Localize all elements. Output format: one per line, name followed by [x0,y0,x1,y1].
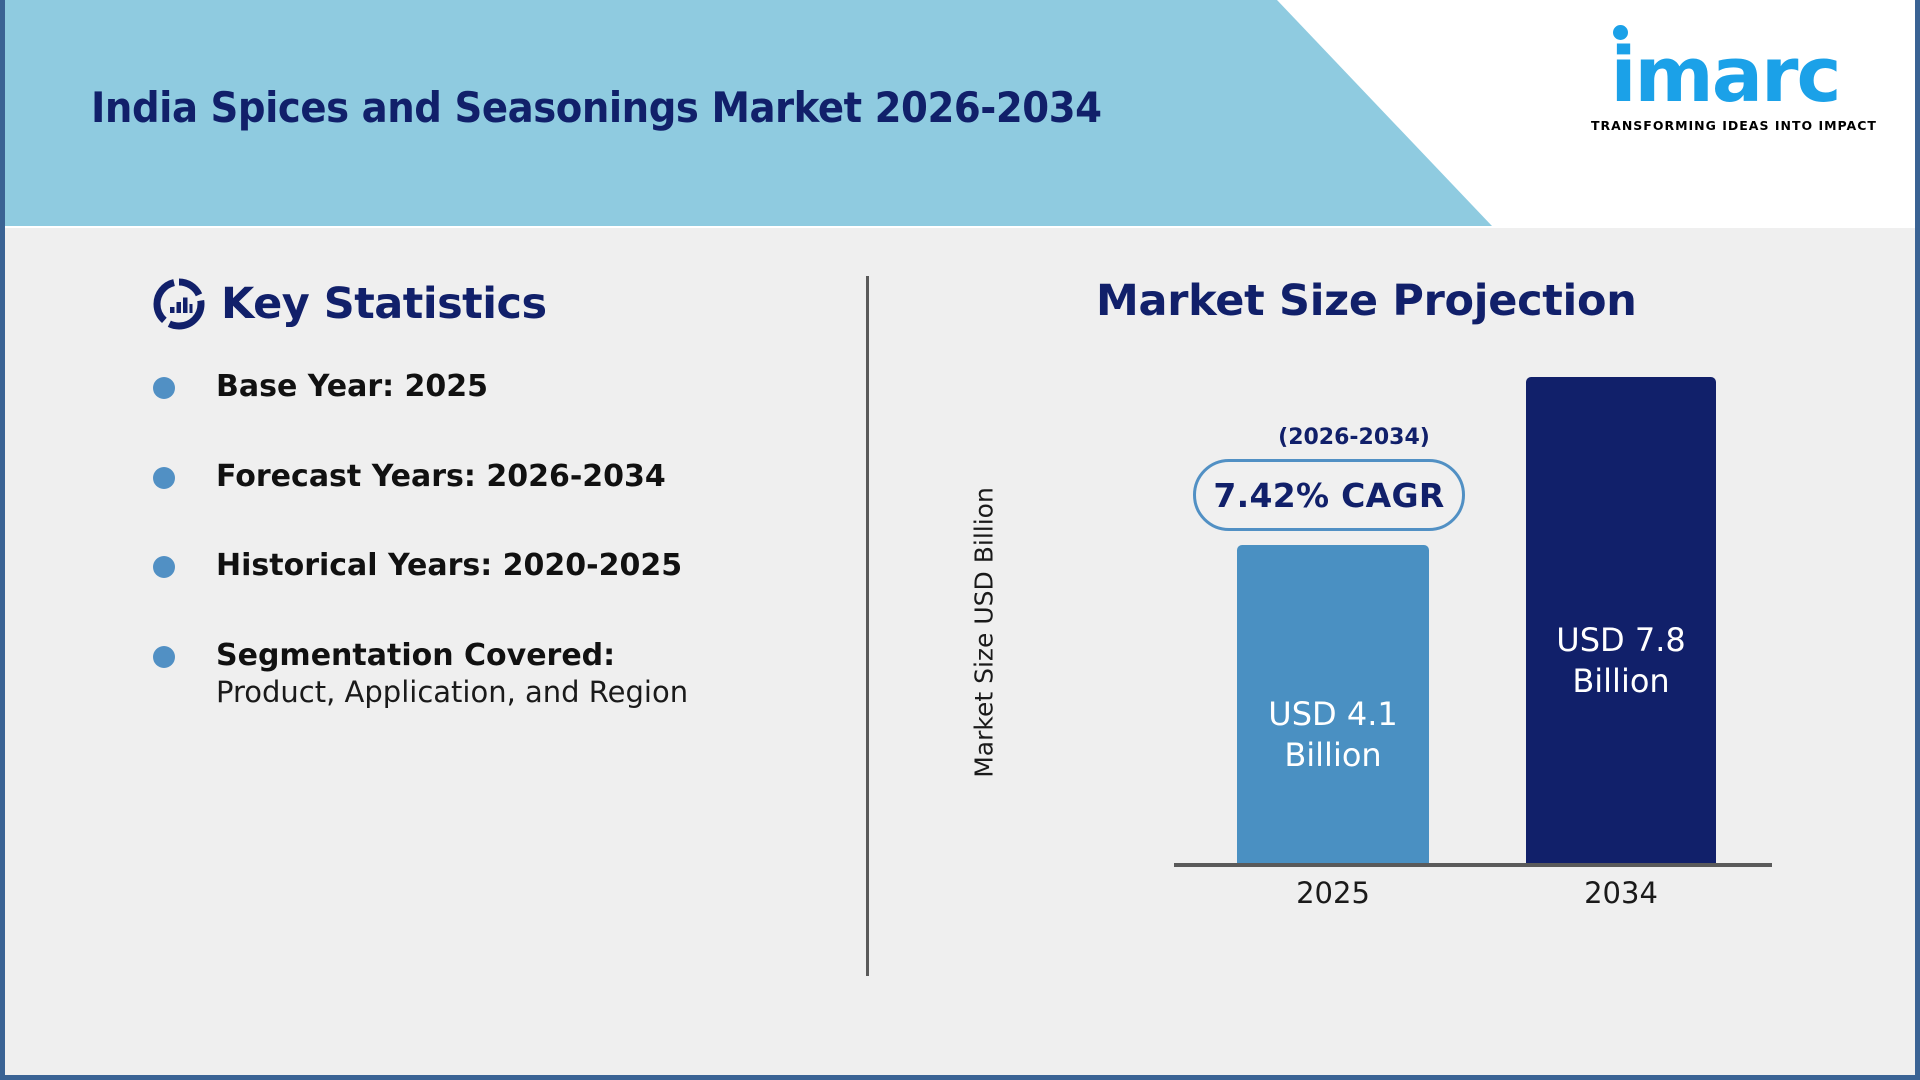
x-axis-tick-2034: 2034 [1525,876,1717,910]
bar-2034: USD 7.8 Billion [1526,377,1716,863]
list-item-texts: Forecast Years: 2026-2034 [216,458,666,496]
key-statistics-panel: Key Statistics Base Year: 2025 Forecast … [5,228,866,1075]
imarc-logo: imarc TRANSFORMING IDEAS INTO IMPACT [1591,36,1859,133]
key-statistics-list: Base Year: 2025 Forecast Years: 2026-203… [153,368,833,710]
donut-bar-chart-icon [153,278,205,330]
bar-2034-value-line2: Billion [1572,662,1669,700]
infographic-canvas: India Spices and Seasonings Market 2026-… [0,0,1920,1080]
x-axis-tick-2025: 2025 [1237,876,1429,910]
bullet-icon [153,377,175,399]
bullet-icon [153,467,175,489]
bar-2034-value-line1: USD 7.8 [1556,621,1685,659]
bar-2025-value: USD 4.1 Billion [1268,694,1397,776]
list-item-label: Forecast Years: 2026-2034 [216,459,666,494]
bullet-icon [153,646,175,668]
logo-mark: imarc [1591,36,1859,114]
list-item-texts: Historical Years: 2020-2025 [216,547,682,585]
bar-2034-value: USD 7.8 Billion [1556,620,1685,702]
cagr-value: 7.42% CAGR [1213,476,1444,515]
list-item-texts: Segmentation Covered: Product, Applicati… [216,637,833,711]
list-item: Historical Years: 2020-2025 [153,547,833,585]
chart-x-axis-line [1174,863,1772,867]
bar-chart: (2026-2034) 7.42% CAGR USD 4.1 Billion U… [866,228,1915,1075]
bar-2025-value-line1: USD 4.1 [1268,695,1397,733]
list-item: Segmentation Covered: Product, Applicati… [153,637,833,711]
list-item: Base Year: 2025 [153,368,833,406]
list-item-label: Segmentation Covered: [216,638,615,673]
market-size-projection-panel: Market Size Projection Market Size USD B… [866,228,1915,1075]
cagr-badge: 7.42% CAGR [1193,459,1465,531]
list-item-texts: Base Year: 2025 [216,368,488,406]
header-banner: India Spices and Seasonings Market 2026-… [5,0,1915,228]
cagr-period-label: (2026-2034) [1221,425,1487,450]
content-area: Key Statistics Base Year: 2025 Forecast … [5,228,1915,1075]
bullet-icon [153,556,175,578]
list-item-sublabel: Product, Application, and Region [216,675,688,709]
key-statistics-header: Key Statistics [153,278,547,330]
list-item-label: Base Year: 2025 [216,369,488,404]
list-item: Forecast Years: 2026-2034 [153,458,833,496]
list-item-label: Historical Years: 2020-2025 [216,548,682,583]
logo-dot-icon [1613,25,1628,40]
key-statistics-title: Key Statistics [221,279,547,329]
bar-2025: USD 4.1 Billion [1237,545,1429,863]
bar-2025-value-line2: Billion [1284,736,1381,774]
logo-wordmark: imarc [1591,36,1859,114]
logo-tagline: TRANSFORMING IDEAS INTO IMPACT [1591,118,1859,133]
page-title: India Spices and Seasonings Market 2026-… [91,83,1102,132]
